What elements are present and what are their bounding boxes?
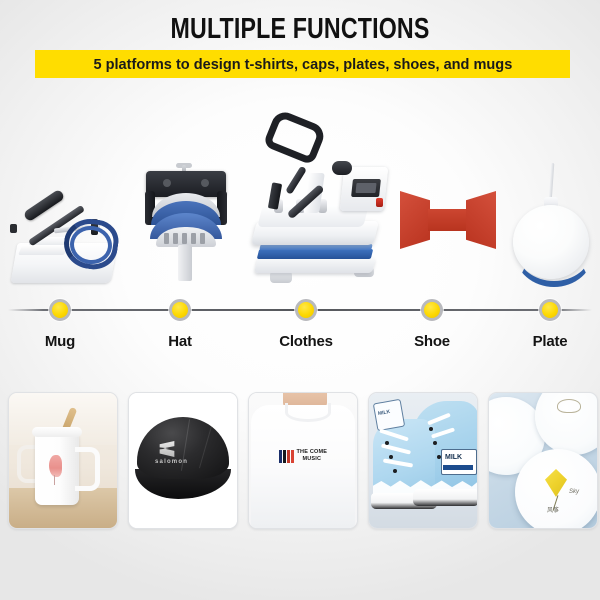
subtitle-text: 5 platforms to design t-shirts, caps, pl… — [93, 56, 512, 73]
logo-line-1: THE COME — [297, 449, 328, 456]
timeline-label: Shoe — [372, 333, 492, 350]
cap-brand-text: salomon — [155, 459, 188, 465]
timeline-label: Mug — [0, 333, 120, 350]
gallery-card-plate[interactable]: Sky 风筝 — [488, 392, 598, 529]
tshirt-chest-logo: THE COME MUSIC — [279, 449, 327, 463]
timeline-label: Hat — [120, 333, 240, 350]
kite-label-cn: 风筝 — [547, 505, 559, 514]
tshirt-photo: THE COME MUSIC — [249, 393, 357, 528]
timeline-node-plate[interactable]: Plate — [490, 286, 600, 350]
page-title: MULTIPLE FUNCTIONS — [60, 14, 540, 45]
milk-box-print-icon — [441, 449, 477, 475]
plate-press-image — [505, 163, 595, 283]
timeline-node-clothes[interactable]: Clothes — [246, 286, 366, 350]
plate-photo: Sky 风筝 — [489, 393, 597, 528]
sneaker-print-large: MILK — [445, 454, 462, 461]
gallery-card-tshirt[interactable]: THE COME MUSIC — [248, 392, 358, 529]
timeline-dot-icon — [169, 299, 191, 321]
gallery-card-sneaker[interactable]: MILK MILK — [368, 392, 478, 529]
kite-label: Sky — [569, 489, 579, 495]
gallery-card-mug[interactable] — [8, 392, 118, 529]
logo-bars-icon — [279, 450, 294, 463]
timeline: Mug Hat Clothes Shoe Plate — [0, 286, 600, 364]
timeline-node-mug[interactable]: Mug — [0, 286, 120, 350]
product-row — [0, 108, 600, 283]
timeline-node-shoe[interactable]: Shoe — [372, 286, 492, 350]
gallery-strip: salomon THE COME MUSIC — [0, 392, 600, 527]
clothes-press-image — [248, 118, 390, 283]
timeline-node-hat[interactable]: Hat — [120, 286, 240, 350]
mug-photo — [9, 393, 117, 528]
hat-press-image — [140, 165, 232, 283]
subtitle-banner: 5 platforms to design t-shirts, caps, pl… — [35, 50, 570, 78]
gallery-card-cap[interactable]: salomon — [128, 392, 238, 529]
flamingo-print-icon — [49, 455, 62, 477]
timeline-dot-icon — [295, 299, 317, 321]
mug-press-image — [8, 168, 123, 283]
sneaker-photo: MILK MILK — [369, 393, 477, 528]
timeline-dot-icon — [539, 299, 561, 321]
infographic-page: MULTIPLE FUNCTIONS 5 platforms to design… — [0, 0, 600, 600]
timeline-label: Clothes — [246, 333, 366, 350]
logo-line-2: MUSIC — [297, 456, 328, 463]
timeline-dot-icon — [49, 299, 71, 321]
timeline-dot-icon — [421, 299, 443, 321]
shoe-press-image — [400, 191, 496, 251]
timeline-label: Plate — [490, 333, 600, 350]
cap-photo: salomon — [129, 393, 237, 528]
